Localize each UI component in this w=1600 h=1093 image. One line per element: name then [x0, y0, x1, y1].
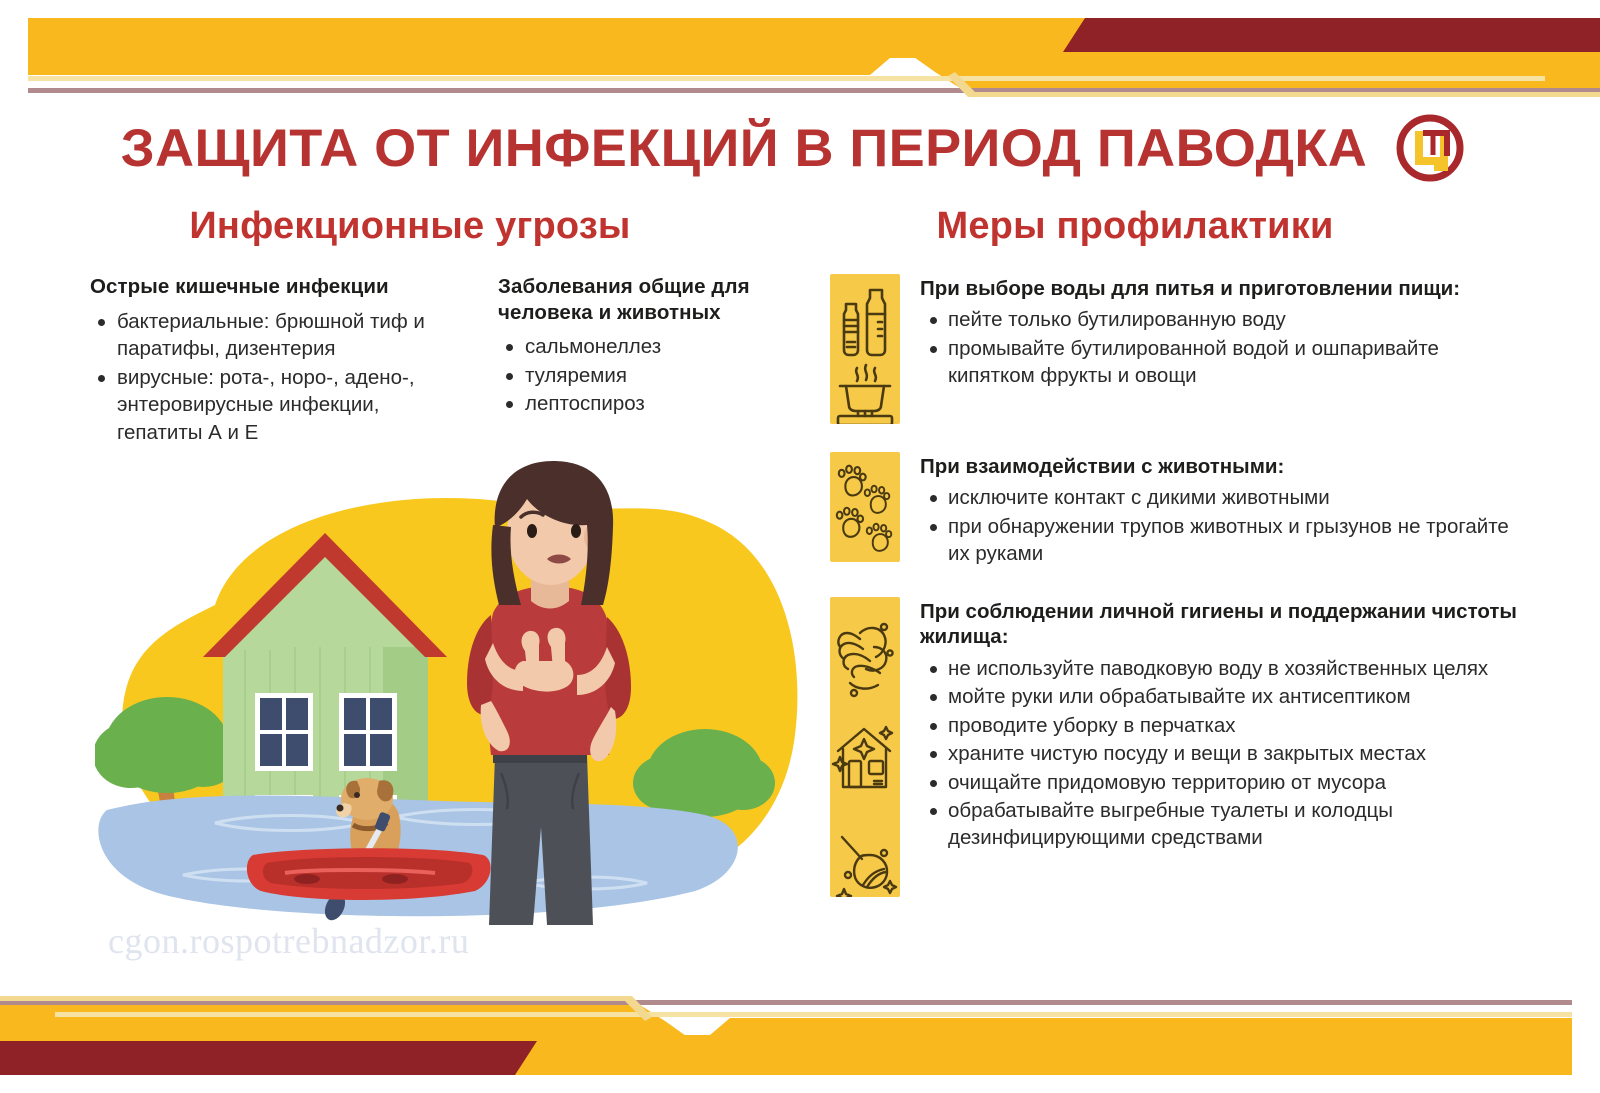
- list-item: бактериальные: брюшной тиф и паратифы, д…: [90, 308, 470, 363]
- list-item: при обнаружении трупов животных и грызун…: [920, 513, 1520, 568]
- prevention-body: При выборе воды для питья и приготовлени…: [920, 274, 1520, 391]
- prevention-block-water: При выборе воды для питья и приготовлени…: [830, 274, 1520, 424]
- prevention-block-animals: При взаимодействии с животными: исключит…: [830, 452, 1520, 569]
- list-item: туляремия: [498, 362, 788, 389]
- list-item: пейте только бутилированную воду: [920, 306, 1520, 333]
- prevention-heading: При выборе воды для питья и приготовлени…: [920, 276, 1520, 301]
- list-item: проводите уборку в перчатках: [920, 712, 1520, 739]
- prevention-body: При соблюдении личной гигиены и поддержа…: [920, 597, 1520, 853]
- bottom-band-graphic: [0, 983, 1600, 1093]
- list-item: обрабатывайте выгребные туалеты и колодц…: [920, 797, 1520, 852]
- right-column-heading: Меры профилактики: [830, 205, 1440, 248]
- prevention-block-hygiene: При соблюдении личной гигиены и поддержа…: [830, 597, 1520, 897]
- water-bottles-and-pot-icon: [830, 274, 900, 424]
- list-item: очищайте придомовую территорию от мусора: [920, 769, 1520, 796]
- page-title: ЗАЩИТА ОТ ИНФЕКЦИЙ В ПЕРИОД ПАВОДКА: [121, 118, 1367, 179]
- list-item: лептоспироз: [498, 390, 788, 417]
- prevention-list: исключите контакт с дикими животными при…: [920, 484, 1520, 567]
- threat-list: бактериальные: брюшной тиф и паратифы, д…: [90, 308, 470, 446]
- threat-group-zoonotic: Заболевания общие для человека и животны…: [498, 274, 788, 419]
- infection-threats-column: Инфекционные угрозы Острые кишечные инфе…: [90, 205, 790, 447]
- threat-list: сальмонеллез туляремия лептоспироз: [498, 333, 788, 417]
- prevention-heading: При соблюдении личной гигиены и поддержа…: [920, 599, 1520, 650]
- red-inflatable-boat: [247, 848, 491, 900]
- prevention-heading: При взаимодействии с животными:: [920, 454, 1520, 479]
- animal-paw-prints-icon: [830, 452, 900, 562]
- list-item: храните чистую посуду и вещи в закрытых …: [920, 740, 1520, 767]
- left-column-heading: Инфекционные угрозы: [90, 205, 730, 248]
- threat-group-acute-intestinal: Острые кишечные инфекции бактериальные: …: [90, 274, 470, 447]
- rospotrebnadzor-cgon-logo-icon: [1393, 111, 1467, 185]
- list-item: не используйте паводковую воду в хозяйст…: [920, 655, 1520, 682]
- hygiene-house-broom-icon: [830, 597, 900, 897]
- prevention-list: пейте только бутилированную воду промыва…: [920, 306, 1520, 389]
- list-item: сальмонеллез: [498, 333, 788, 360]
- hygiene-icon-graphic: [830, 597, 900, 897]
- title-row: ЗАЩИТА ОТ ИНФЕКЦИЙ В ПЕРИОД ПАВОДКА: [0, 108, 1600, 188]
- poster-root: ЗАЩИТА ОТ ИНФЕКЦИЙ В ПЕРИОД ПАВОДКА Инфе…: [0, 0, 1600, 1093]
- threat-group-title: Заболевания общие для человека и животны…: [498, 274, 788, 325]
- bottom-decorative-band: [0, 983, 1600, 1093]
- paws-icon-graphic: [830, 452, 900, 562]
- list-item: промывайте бутилированной водой и ошпари…: [920, 335, 1520, 390]
- top-decorative-band: [0, 0, 1600, 110]
- watermark: cgon.rospotrebnadzor.ru: [108, 920, 469, 962]
- logo-graphic: [1393, 111, 1467, 185]
- top-band-graphic: [0, 0, 1600, 110]
- prevention-list: не используйте паводковую воду в хозяйст…: [920, 655, 1520, 852]
- threat-groups: Острые кишечные инфекции бактериальные: …: [90, 274, 790, 447]
- list-item: исключите контакт с дикими животными: [920, 484, 1520, 511]
- flood-illustration-graphic: [95, 455, 825, 925]
- water-icon-graphic: [830, 274, 900, 424]
- prevention-measures-column: Меры профилактики: [830, 205, 1520, 919]
- prevention-body: При взаимодействии с животными: исключит…: [920, 452, 1520, 569]
- flood-illustration: [95, 455, 825, 925]
- list-item: мойте руки или обрабатывайте их антисепт…: [920, 683, 1520, 710]
- list-item: вирусные: рота-, норо-, адено-, энтерови…: [90, 364, 470, 446]
- threat-group-title: Острые кишечные инфекции: [90, 274, 470, 300]
